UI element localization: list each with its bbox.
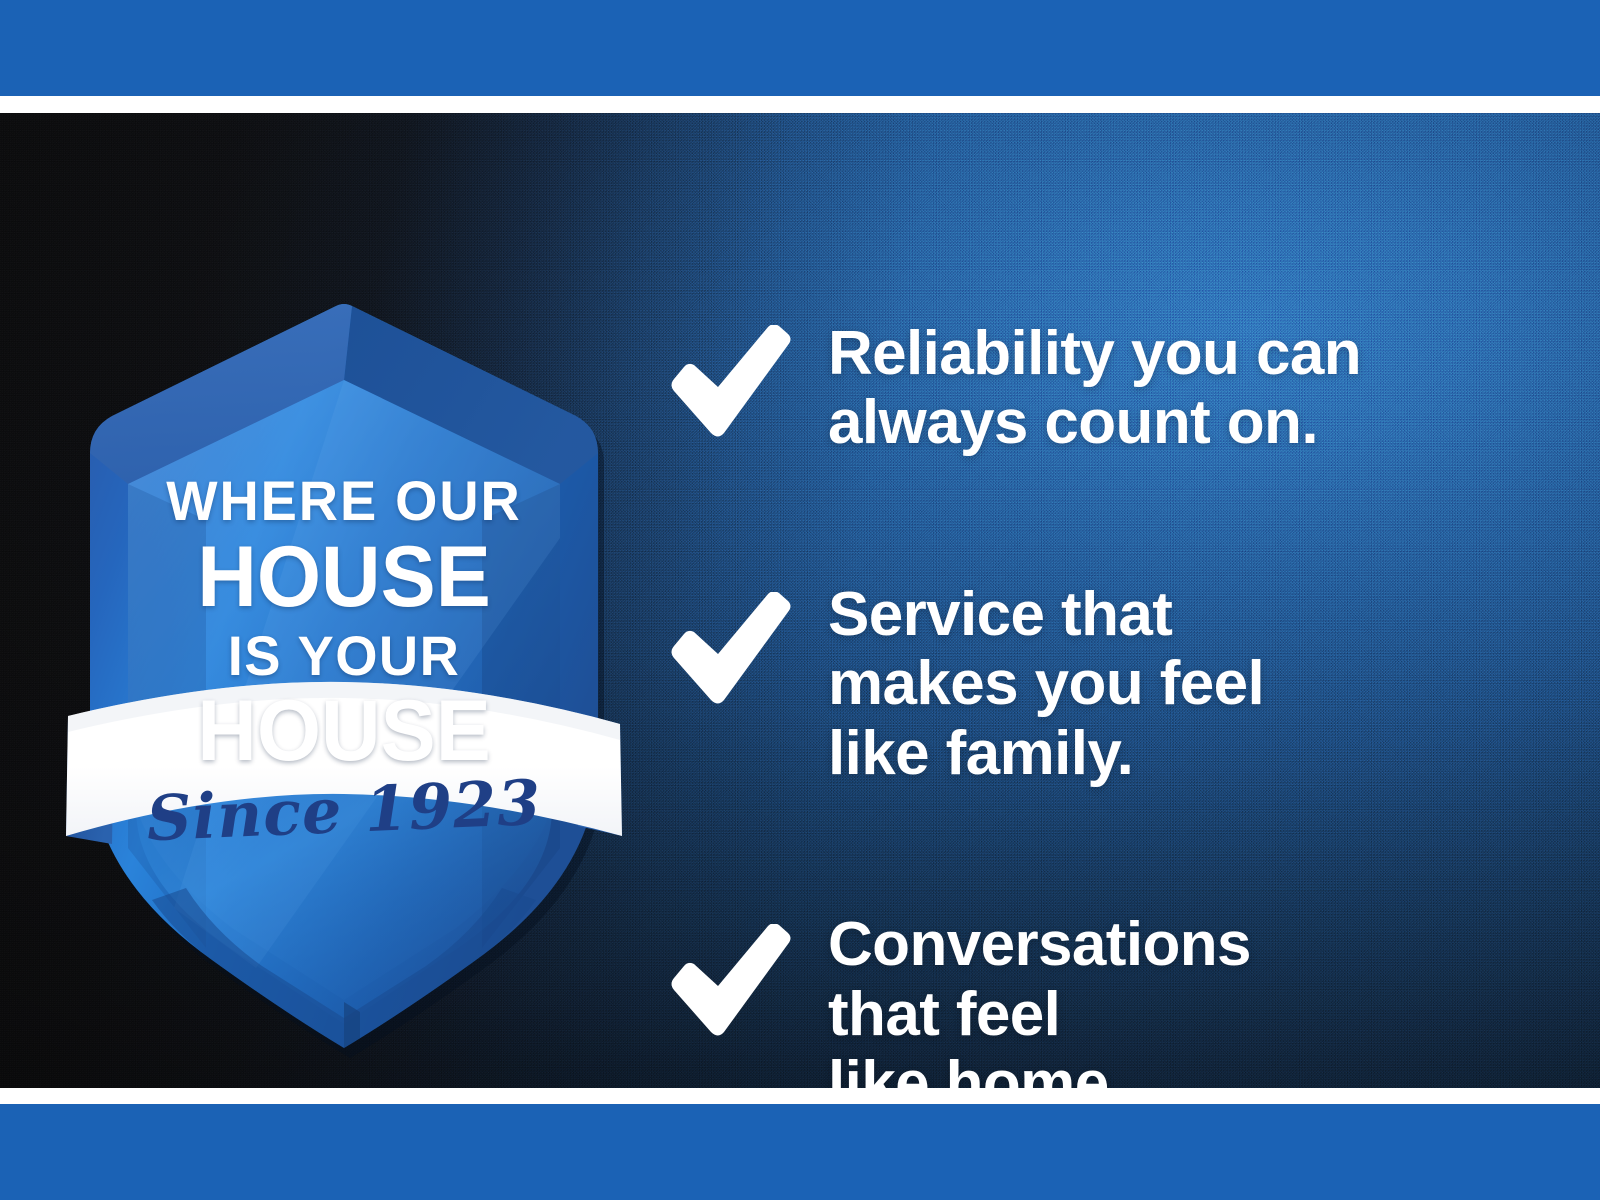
top-brand-bar (0, 0, 1600, 96)
list-item-text: Conversations that feel like home. (828, 908, 1508, 1088)
checkmark-icon (668, 924, 792, 1042)
bottom-brand-bar (0, 1104, 1600, 1200)
benefits-list: Reliability you can always count on. Ser… (668, 313, 1508, 1088)
list-item-text: Service that makes you feel like family. (828, 578, 1508, 788)
checkmark-icon (668, 325, 792, 443)
list-item-text: Reliability you can always count on. (828, 317, 1508, 458)
list-item: Reliability you can always count on. (668, 317, 1508, 458)
shield-badge: WHERE OUR HOUSE IS YOUR HOUSE Since 1923 (56, 288, 632, 948)
promotional-graphic: WHERE OUR HOUSE IS YOUR HOUSE Since 1923… (0, 0, 1600, 1200)
list-item: Conversations that feel like home. (668, 908, 1508, 1088)
list-item: Service that makes you feel like family. (668, 578, 1508, 788)
checkmark-icon (668, 592, 792, 710)
background-stage: WHERE OUR HOUSE IS YOUR HOUSE Since 1923… (0, 113, 1600, 1088)
